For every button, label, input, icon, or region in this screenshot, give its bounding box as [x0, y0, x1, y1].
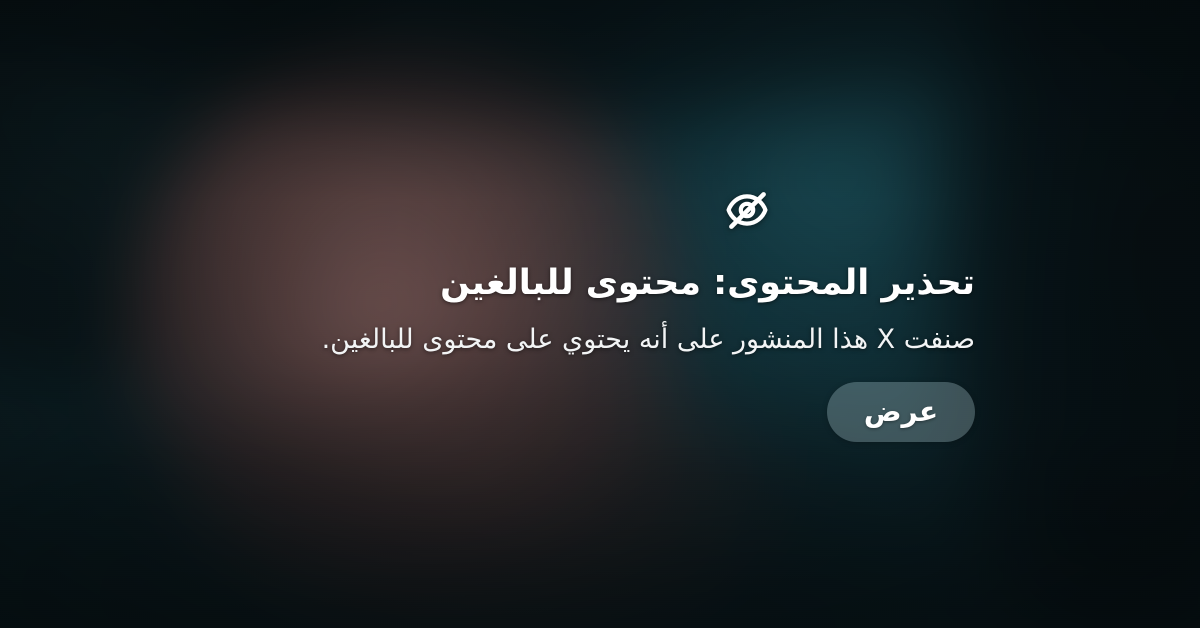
content-warning-screen: تحذير المحتوى: محتوى للبالغين صنفت X هذا… [0, 0, 1200, 628]
warning-icon-row [371, 186, 1123, 234]
warning-description: صنفت X هذا المنشور على أنه يحتوي على محت… [322, 322, 975, 358]
view-button[interactable]: عرض [827, 382, 975, 442]
content-warning-panel: تحذير المحتوى: محتوى للبالغين صنفت X هذا… [223, 186, 975, 442]
page-title: تحذير المحتوى: محتوى للبالغين [440, 262, 975, 306]
content-warning-overlay: تحذير المحتوى: محتوى للبالغين صنفت X هذا… [0, 0, 1200, 628]
eye-off-icon [723, 186, 771, 234]
